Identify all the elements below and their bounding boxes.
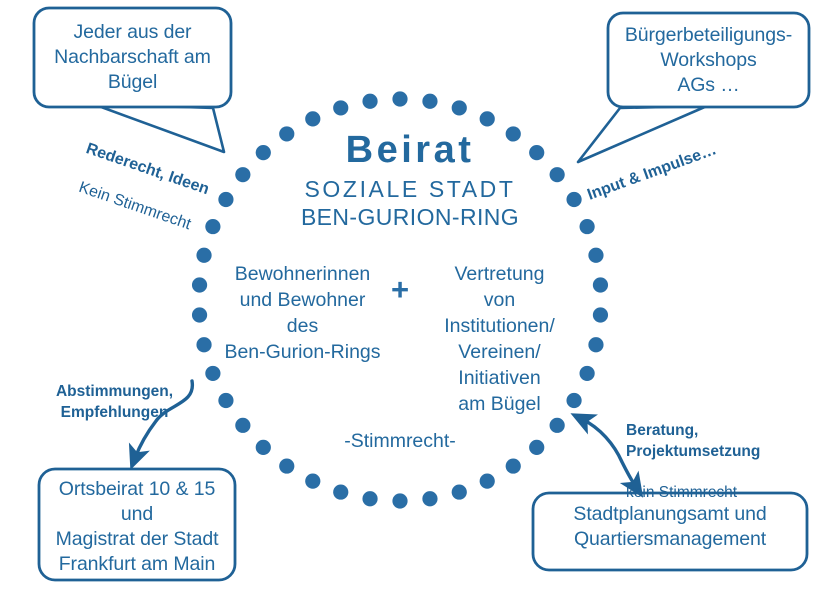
annotation-bottom-left: Abstimmungen, Empfehlungen bbox=[42, 362, 187, 444]
ring-dot bbox=[218, 393, 233, 408]
diagram-canvas: Jeder aus der Nachbarschaft am Bügel Bür… bbox=[0, 0, 820, 600]
annotation-bottom-right-bold: Beratung, Projektumsetzung bbox=[626, 421, 786, 463]
ring-dot bbox=[588, 248, 603, 263]
ring-dot bbox=[305, 111, 320, 126]
ring-dot bbox=[205, 366, 220, 381]
ring-dot bbox=[593, 307, 608, 322]
ring-dot bbox=[333, 484, 348, 499]
ring-dot bbox=[192, 307, 207, 322]
ring-dot bbox=[550, 418, 565, 433]
ring-dot bbox=[392, 493, 407, 508]
bubble-top-right-text: Bürgerbeteiligungs- Workshops AGs … bbox=[614, 23, 803, 98]
ring-dot bbox=[422, 491, 437, 506]
ring-dot bbox=[333, 100, 348, 115]
ring-dot bbox=[480, 473, 495, 488]
annotation-bottom-left-bold: Abstimmungen, Empfehlungen bbox=[42, 382, 187, 423]
voting-rights-note: -Stimmrecht- bbox=[300, 430, 500, 453]
bubble-top-left-text: Jeder aus der Nachbarschaft am Bügel bbox=[42, 20, 223, 95]
annotation-bottom-right: Beratung, Projektumsetzung kein Stimmrec… bbox=[626, 400, 786, 525]
ring-dot bbox=[362, 94, 377, 109]
ring-dot bbox=[588, 337, 603, 352]
ring-column-left: Bewohnerinnen und Bewohner des Ben-Gurio… bbox=[215, 262, 390, 366]
ring-dot bbox=[506, 458, 521, 473]
ring-dot bbox=[192, 277, 207, 292]
ring-dot bbox=[529, 440, 544, 455]
ring-dot bbox=[235, 418, 250, 433]
ring-dot bbox=[392, 91, 407, 106]
ring-dot bbox=[593, 277, 608, 292]
ring-dot bbox=[256, 440, 271, 455]
annotation-bottom-right-regular: kein Stimmrecht bbox=[626, 483, 786, 504]
ring-column-right: Vertretung von Institutionen/ Vereinen/ … bbox=[412, 262, 587, 418]
box-bottom-left-text: Ortsbeirat 10 & 15 und Magistrat der Sta… bbox=[44, 477, 230, 577]
ring-dot bbox=[422, 94, 437, 109]
ring-dot bbox=[279, 458, 294, 473]
ring-dot bbox=[452, 100, 467, 115]
ring-dot bbox=[480, 111, 495, 126]
ring-dot bbox=[452, 484, 467, 499]
ring-dot bbox=[305, 473, 320, 488]
ring-dot bbox=[362, 491, 377, 506]
ring-dot bbox=[196, 337, 211, 352]
